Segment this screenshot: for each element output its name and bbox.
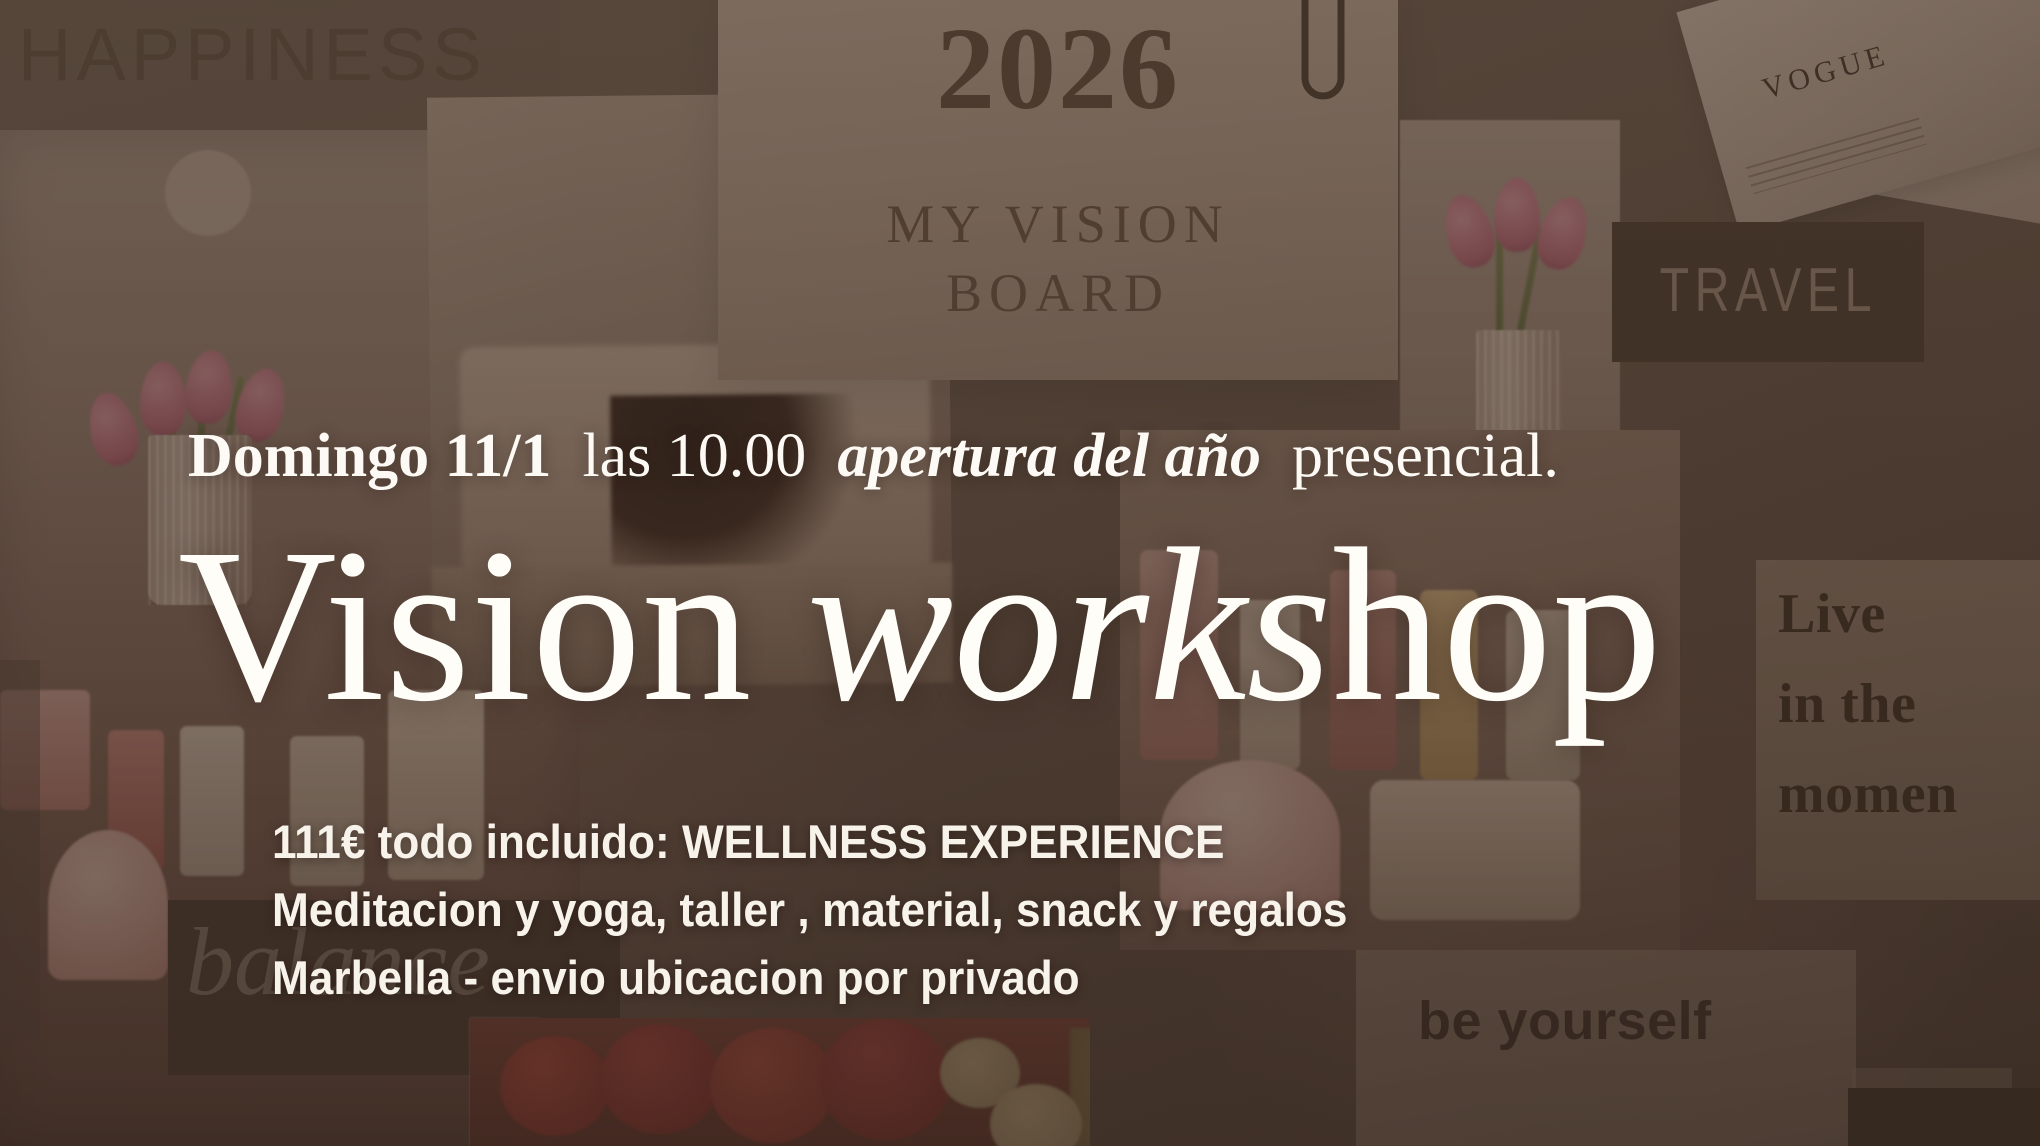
title-part-1: Vision (178, 503, 807, 747)
vision-board-subtitle: MY VISION BOARD (718, 190, 1398, 328)
kicker-emphasis: apertura del año (837, 422, 1261, 490)
details-line-2: Meditacion y yoga, taller , material, sn… (272, 876, 1416, 944)
title-part-3: hop (1332, 503, 1662, 747)
event-title: Vision workshop (178, 520, 1662, 731)
title-part-2: works (807, 503, 1333, 747)
event-details: 111€ todo incluido: WELLNESS EXPERIENCE … (272, 808, 1416, 1012)
details-line-3: Marbella - envio ubicacion por privado (272, 944, 1416, 1012)
kicker-date: Domingo 11/1 (188, 422, 551, 490)
kicker-format: presencial. (1292, 422, 1559, 490)
vision-board-line-2: BOARD (718, 259, 1398, 328)
poster-canvas: VOGUE TRAVEL Live in the momen be yourse… (0, 0, 2040, 1146)
happiness-label: HAPPINESS (18, 12, 487, 97)
kicker-time: las 10.00 (582, 422, 806, 490)
details-line-1: 111€ todo incluido: WELLNESS EXPERIENCE (272, 808, 1416, 876)
vision-board-line-1: MY VISION (718, 190, 1398, 259)
vision-board-year: 2026 (718, 10, 1398, 128)
event-kicker: Domingo 11/1 las 10.00 apertura del año … (188, 425, 1559, 487)
